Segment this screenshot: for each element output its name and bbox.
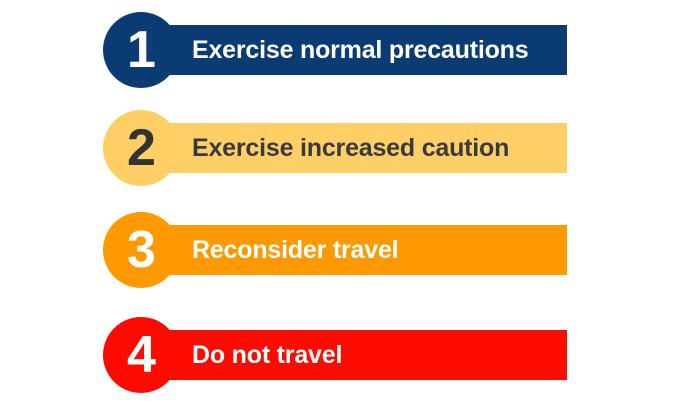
advisory-level-label: Exercise increased caution bbox=[192, 123, 509, 173]
advisory-level-label: Exercise normal precautions bbox=[192, 25, 528, 75]
advisory-level-number: 3 bbox=[103, 212, 179, 288]
advisory-level-row: 3 Reconsider travel bbox=[103, 212, 567, 288]
advisory-level-row: 2 Exercise increased caution bbox=[103, 110, 567, 186]
travel-advisory-levels-diagram: 1 Exercise normal precautions 2 Exercise… bbox=[0, 0, 700, 418]
advisory-level-row: 1 Exercise normal precautions bbox=[103, 12, 567, 88]
advisory-level-label: Reconsider travel bbox=[192, 225, 398, 275]
advisory-level-number: 2 bbox=[103, 110, 179, 186]
advisory-level-label: Do not travel bbox=[192, 330, 342, 380]
advisory-level-number: 1 bbox=[103, 12, 179, 88]
advisory-level-number: 4 bbox=[103, 317, 179, 393]
advisory-level-row: 4 Do not travel bbox=[103, 317, 567, 393]
